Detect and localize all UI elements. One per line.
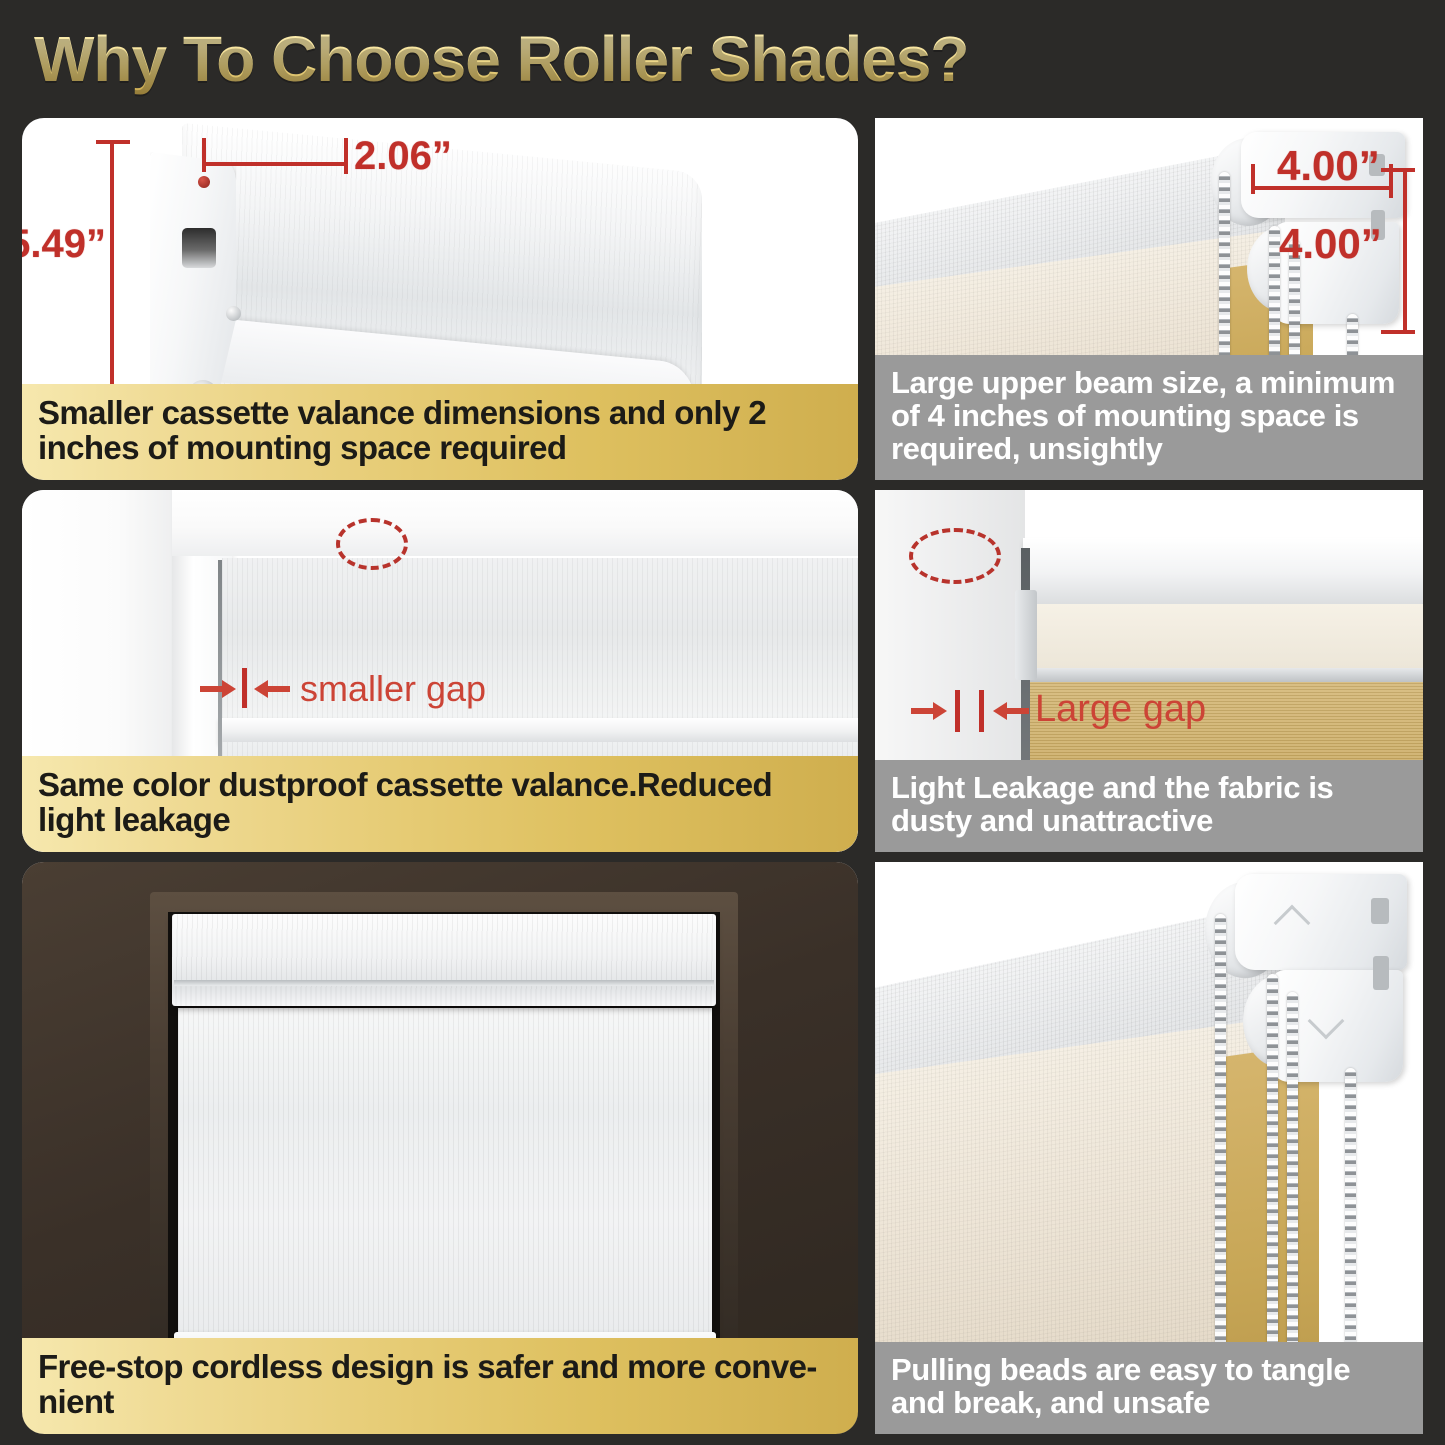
gap-arrow-left-icon [911, 700, 947, 722]
window-head-trim [172, 490, 858, 556]
width-dimension-label: 2.06” [354, 134, 452, 179]
gap-marker-line-b [979, 690, 984, 732]
cassette-valance [172, 914, 716, 1006]
panel-4-caption: Light Leakage and the fabric is dusty an… [875, 760, 1423, 852]
beam-height-tick-top [1381, 168, 1415, 172]
width-dim-line [204, 162, 348, 166]
bead-chain-2 [1267, 974, 1278, 1400]
bracket-slot [182, 228, 216, 268]
beam-width-tick-left [1251, 164, 1255, 194]
smaller-gap-label: smaller gap [300, 668, 486, 710]
panel-5-caption: Free-stop cordless design is safer and m… [22, 1338, 858, 1434]
panel-1-caption: Smaller cassette valance dimensions and … [22, 384, 858, 480]
gap-arrow-left-icon [200, 678, 236, 700]
screw-icon [226, 306, 241, 321]
width-dim-tick-left [202, 138, 206, 172]
height-dimension-label: 5.49” [22, 222, 106, 267]
panel-large-beam: 4.00” 4.00” Large upper beam size, a min… [875, 118, 1423, 480]
page-header: Why To Choose Roller Shades? [0, 0, 1445, 108]
panel-6-caption: Pulling beads are easy to tangle and bre… [875, 1342, 1423, 1434]
red-screw-icon [198, 176, 210, 188]
panel-2-caption: Large upper beam size, a minimum of 4 in… [875, 355, 1423, 480]
panel-3-caption: Same color dustproof cassette valance.Re… [22, 756, 858, 852]
bead-chain-1 [1215, 914, 1226, 1400]
panel-smaller-gap: smaller gap Same color dustproof cassett… [22, 490, 858, 852]
beam-height-tick-bottom [1381, 330, 1415, 334]
beam-height-label: 4.00” [1279, 220, 1382, 268]
bracket-notch-lower [1373, 956, 1389, 990]
gap-arrow-right-icon [993, 700, 1029, 722]
leak-highlight-ellipse [909, 528, 1001, 584]
shade-mid-rail [218, 718, 858, 744]
highlight-ellipse [336, 518, 408, 570]
panel-cassette-dimensions: 2.06” 5.49” Smaller cassette valance dim… [22, 118, 858, 480]
panel-pulling-beads: Pulling beads are easy to tangle and bre… [875, 862, 1423, 1434]
width-dim-tick-right [344, 138, 348, 174]
gap-marker-line [242, 668, 247, 708]
white-fabric-band [1027, 604, 1423, 670]
valance-groove [174, 980, 714, 986]
panel-cordless-design: Free-stop cordless design is safer and m… [22, 862, 858, 1434]
height-dim-tick-top [96, 140, 130, 144]
side-bracket [1015, 590, 1037, 680]
gap-arrow-right-icon [254, 678, 290, 700]
roller-shade-fabric [178, 1008, 712, 1348]
bead-chain-3 [1287, 992, 1298, 1400]
bracket-notch-upper [1371, 898, 1389, 924]
panel-large-gap: Large gap Light Leakage and the fabric i… [875, 490, 1423, 852]
beam-width-label: 4.00” [1277, 142, 1380, 190]
page-title: Why To Choose Roller Shades? [34, 22, 968, 96]
upper-beam [1023, 538, 1423, 608]
gap-marker-line-a [955, 690, 960, 732]
large-gap-label: Large gap [1035, 688, 1206, 731]
beam-height-dim-line [1403, 168, 1407, 334]
comparison-grid: 2.06” 5.49” Smaller cassette valance dim… [0, 108, 1445, 1445]
